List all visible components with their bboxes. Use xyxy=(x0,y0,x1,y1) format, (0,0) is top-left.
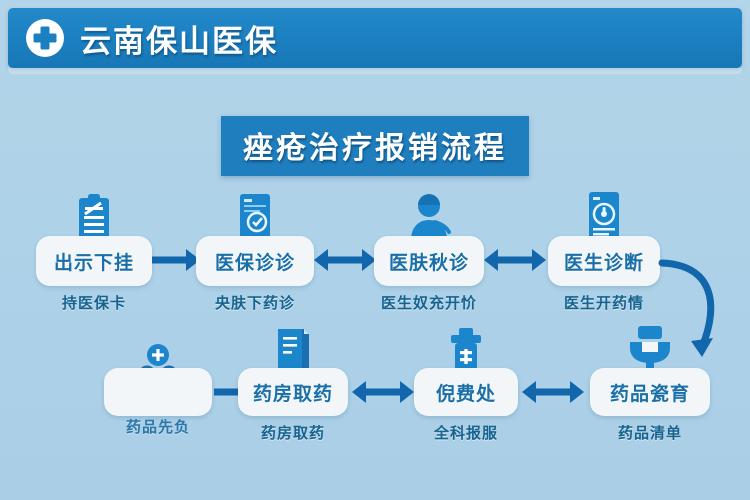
flow-node-6-caption: 药房取药 xyxy=(261,422,325,443)
flow-node-6-chip[interactable]: 药房取药 xyxy=(238,368,348,416)
header-title: 云南保山医保 xyxy=(80,16,278,61)
flow-node-5-chip[interactable]: 药品先负 xyxy=(104,368,212,416)
app-header: 云南保山医保 xyxy=(8,8,742,68)
flow-node-8-chip[interactable]: 药品瓷育 xyxy=(590,368,710,416)
infographic-canvas: 云南保山医保 痤疮治疗报销流程 出示下挂 持医保卡 xyxy=(0,0,750,500)
flow-node-8[interactable]: 药品瓷育 药品清单 xyxy=(590,368,710,416)
flow-node-4-chip[interactable]: 医生诊断 xyxy=(548,236,660,286)
arrow-node7-node8 xyxy=(522,381,584,403)
flow-node-4-caption: 医生开药情 xyxy=(564,292,644,313)
flow-node-3-chip[interactable]: 医肤秋诊 xyxy=(374,236,484,286)
flow-node-1[interactable]: 出示下挂 持医保卡 xyxy=(36,236,152,286)
flow-node-8-label: 药品瓷育 xyxy=(610,379,690,406)
flow-node-6-label: 药房取药 xyxy=(253,379,333,406)
flow-node-4[interactable]: 医生诊断 医生开药情 xyxy=(548,236,660,286)
flow-node-3[interactable]: 医肤秋诊 医生奴充开忦 xyxy=(374,236,484,286)
arrow-node1-node2 xyxy=(152,249,200,271)
flow-node-1-caption: 持医保卡 xyxy=(62,292,126,313)
flow-node-4-label: 医生诊断 xyxy=(564,248,644,275)
page-title: 痤疮治疗报销流程 xyxy=(221,116,529,176)
page-title-text: 痤疮治疗报销流程 xyxy=(243,131,507,166)
flow-node-7-label: 倪费处 xyxy=(436,379,496,406)
arrow-node6-node7 xyxy=(352,381,414,403)
flow-node-2-chip[interactable]: 医保诊诊 xyxy=(196,236,314,286)
flow-node-3-label: 医肤秋诊 xyxy=(389,248,469,275)
medical-cross-icon xyxy=(26,19,64,57)
flow-node-3-caption: 医生奴充开忦 xyxy=(381,292,477,313)
flow-node-1-label: 出示下挂 xyxy=(54,248,134,275)
flow-node-6[interactable]: 药房取药 药房取药 xyxy=(238,368,348,416)
flow-node-5[interactable]: 药品先负 药品先负 xyxy=(104,368,212,416)
flow-node-2-caption: 央肤下药诊 xyxy=(215,292,295,313)
flow-node-7-chip[interactable]: 倪费处 xyxy=(414,368,518,416)
flow-node-5-caption: 药品先负 xyxy=(126,416,190,437)
arrow-node3-node4 xyxy=(484,249,546,271)
flow-node-7-caption: 全科报服 xyxy=(434,422,498,443)
flow-node-2-label: 医保诊诊 xyxy=(215,248,295,275)
arrow-node2-node3 xyxy=(314,249,376,271)
flow-node-8-caption: 药品清单 xyxy=(618,422,682,443)
flow-node-1-chip[interactable]: 出示下挂 xyxy=(36,236,152,286)
flow-node-7[interactable]: 倪费处 全科报服 xyxy=(414,368,518,416)
flow-node-2[interactable]: 医保诊诊 央肤下药诊 xyxy=(196,236,314,286)
